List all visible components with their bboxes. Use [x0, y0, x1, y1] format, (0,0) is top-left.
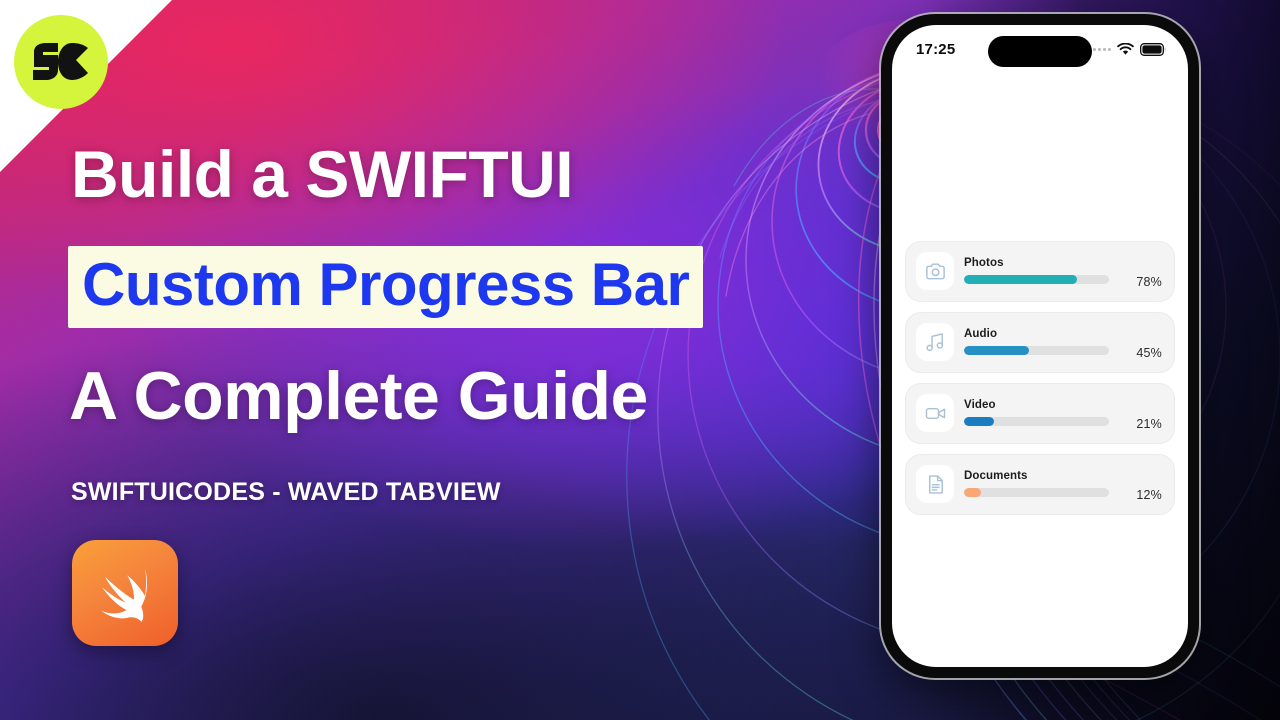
document-icon-tile	[916, 465, 954, 503]
dynamic-island	[988, 36, 1092, 67]
card-percent: 21%	[1136, 417, 1162, 432]
thumbnail-canvas: Build a SWIFTUI Custom Progress Bar A Co…	[0, 0, 1280, 720]
card-body: Photos	[964, 258, 1126, 285]
progress-card-video[interactable]: Video 21%	[905, 383, 1175, 444]
status-indicators	[1093, 43, 1166, 56]
progress-card-photos[interactable]: Photos 78%	[905, 241, 1175, 302]
progress-track[interactable]	[964, 417, 1109, 426]
camera-icon-tile	[916, 252, 954, 290]
card-percent: 78%	[1136, 275, 1162, 290]
phone-screen: 17:25	[892, 25, 1188, 667]
card-title: Video	[964, 400, 1126, 412]
card-title: Audio	[964, 329, 1126, 341]
progress-track[interactable]	[964, 275, 1109, 284]
document-icon	[924, 473, 947, 496]
progress-track[interactable]	[964, 488, 1109, 497]
cellular-dots-icon	[1093, 48, 1111, 51]
card-title: Documents	[964, 471, 1126, 483]
swift-bird-icon	[88, 556, 162, 630]
video-camera-icon	[924, 402, 947, 425]
progress-fill	[964, 417, 994, 426]
card-body: Audio	[964, 329, 1126, 356]
progress-card-audio[interactable]: Audio 45%	[905, 312, 1175, 373]
status-time: 17:25	[916, 41, 955, 58]
wifi-icon	[1117, 43, 1134, 56]
video-camera-icon-tile	[916, 394, 954, 432]
music-note-icon-tile	[916, 323, 954, 361]
sc-monogram-icon	[31, 42, 91, 82]
progress-fill	[964, 275, 1077, 284]
music-note-icon	[924, 331, 947, 354]
headline-highlight-band: Custom Progress Bar	[68, 246, 703, 328]
progress-fill	[964, 488, 981, 497]
battery-full-icon	[1140, 43, 1166, 56]
kicker-text: SWIFTUICODES - WAVED TABVIEW	[71, 478, 501, 507]
swift-logo-badge	[72, 540, 178, 646]
headline-line-2: Custom Progress Bar	[82, 255, 689, 315]
channel-logo	[14, 15, 108, 109]
card-title: Photos	[964, 258, 1126, 270]
phone-mockup: 17:25	[881, 14, 1199, 678]
progress-track[interactable]	[964, 346, 1109, 355]
progress-card-list: Photos 78%	[892, 241, 1188, 515]
headline-line-3: A Complete Guide	[69, 362, 648, 430]
card-percent: 12%	[1136, 488, 1162, 503]
camera-icon	[924, 260, 947, 283]
progress-fill	[964, 346, 1029, 355]
progress-card-documents[interactable]: Documents 12%	[905, 454, 1175, 515]
headline-line-1: Build a SWIFTUI	[71, 141, 573, 207]
card-body: Video	[964, 400, 1126, 427]
card-percent: 45%	[1136, 346, 1162, 361]
card-body: Documents	[964, 471, 1126, 498]
